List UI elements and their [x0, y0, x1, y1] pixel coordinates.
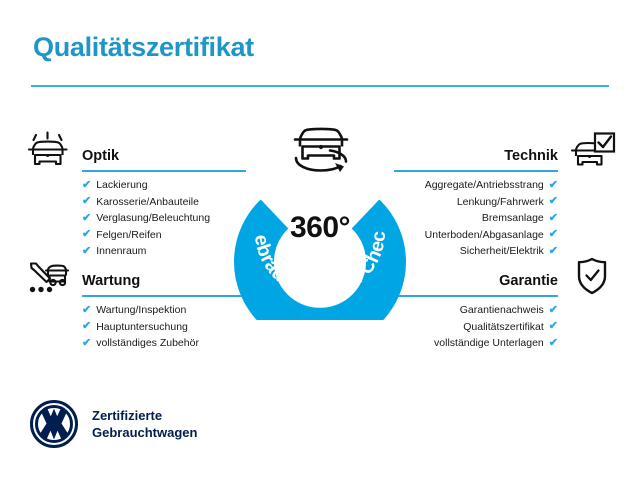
list-item-label: Bremsanlage: [482, 210, 544, 227]
list-item-label: Wartung/Inspektion: [96, 302, 186, 319]
car-rotation-360-icon: [284, 120, 358, 174]
checklist-optik: ✔Lackierung ✔Karosserie/Anbauteile ✔Verg…: [24, 177, 246, 260]
section-title: Wartung: [82, 273, 140, 289]
list-item: Garantienachweis✔: [394, 302, 558, 319]
checklist-wartung: ✔Wartung/Inspektion ✔Hauptuntersuchung ✔…: [24, 302, 246, 352]
list-item-label: Hauptuntersuchung: [96, 319, 188, 336]
section-optik: Optik ✔Lackierung ✔Karosserie/Anbauteile…: [24, 131, 246, 260]
check-icon: ✔: [82, 196, 91, 207]
check-icon: ✔: [82, 229, 91, 240]
check-icon: ✔: [549, 180, 558, 191]
check-icon: ✔: [549, 229, 558, 240]
certificate-page: Qualitätszertifikat Optik ✔Lackierung ✔K…: [0, 0, 640, 480]
list-item-label: Aggregate/Antriebsstrang: [425, 177, 544, 194]
list-item-label: Lackierung: [96, 177, 147, 194]
list-item-label: Garantienachweis: [460, 302, 544, 319]
section-header: Garantie: [394, 256, 616, 302]
list-item: vollständige Unterlagen✔: [394, 335, 558, 352]
list-item: ✔vollständiges Zubehör: [82, 335, 246, 352]
list-item-label: Qualitätszertifikat: [463, 319, 544, 336]
list-item: Aggregate/Antriebsstrang✔: [394, 177, 558, 194]
car-shine-icon: [24, 131, 72, 171]
check-icon: ✔: [82, 321, 91, 332]
check-icon: ✔: [549, 338, 558, 349]
list-item: Unterboden/Abgasanlage✔: [394, 227, 558, 244]
footer-brand-text: Zertifizierte Gebrauchtwagen: [92, 407, 197, 441]
list-item-label: Karosserie/Anbauteile: [96, 194, 199, 211]
list-item-label: Felgen/Reifen: [96, 227, 161, 244]
footer-line-2: Gebrauchtwagen: [92, 424, 197, 441]
section-title: Technik: [504, 148, 558, 164]
footer-line-1: Zertifizierte: [92, 407, 197, 424]
check-icon: ✔: [549, 321, 558, 332]
check-icon: ✔: [549, 196, 558, 207]
section-divider: [394, 170, 558, 172]
check-icon: ✔: [82, 213, 91, 224]
checklist-garantie: Garantienachweis✔ Qualitätszertifikat✔ v…: [394, 302, 616, 352]
section-header: Optik: [24, 131, 246, 177]
section-title: Garantie: [499, 273, 558, 289]
check-icon: ✔: [549, 213, 558, 224]
page-title: Qualitätszertifikat: [33, 32, 254, 63]
list-item: ✔Hauptuntersuchung: [82, 319, 246, 336]
list-item: Lenkung/Fahrwerk✔: [394, 194, 558, 211]
footer-brand: Zertifizierte Gebrauchtwagen: [30, 400, 197, 448]
section-header: Wartung: [24, 256, 246, 302]
title-divider: [31, 85, 609, 87]
check-icon: ✔: [82, 180, 91, 191]
check-icon: ✔: [82, 305, 91, 316]
check-icon: ✔: [82, 338, 91, 349]
section-divider: [394, 295, 558, 297]
list-item-label: vollständiges Zubehör: [96, 335, 199, 352]
vw-logo: [30, 400, 78, 448]
list-item-label: vollständige Unterlagen: [434, 335, 544, 352]
list-item-label: Verglasung/Beleuchtung: [96, 210, 210, 227]
list-item-label: Unterboden/Abgasanlage: [425, 227, 544, 244]
list-item: Bremsanlage✔: [394, 210, 558, 227]
gebrauchtwagen-check-badge: Gebrauchtwagen-Check 360°: [222, 122, 418, 320]
shield-check-icon: [568, 256, 616, 296]
car-checkbox-icon: [568, 131, 616, 171]
list-item: Qualitätszertifikat✔: [394, 319, 558, 336]
section-header: Technik: [394, 131, 616, 177]
section-title: Optik: [82, 148, 119, 164]
checklist-technik: Aggregate/Antriebsstrang✔ Lenkung/Fahrwe…: [394, 177, 616, 260]
car-service-wrench-icon: [24, 256, 72, 296]
check-icon: ✔: [549, 305, 558, 316]
section-garantie: Garantie Garantienachweis✔ Qualitätszert…: [394, 256, 616, 352]
section-technik: Technik Aggregate/Antriebsstrang✔ Lenkun…: [394, 131, 616, 260]
section-wartung: Wartung ✔Wartung/Inspektion ✔Hauptunters…: [24, 256, 246, 352]
list-item-label: Lenkung/Fahrwerk: [457, 194, 544, 211]
